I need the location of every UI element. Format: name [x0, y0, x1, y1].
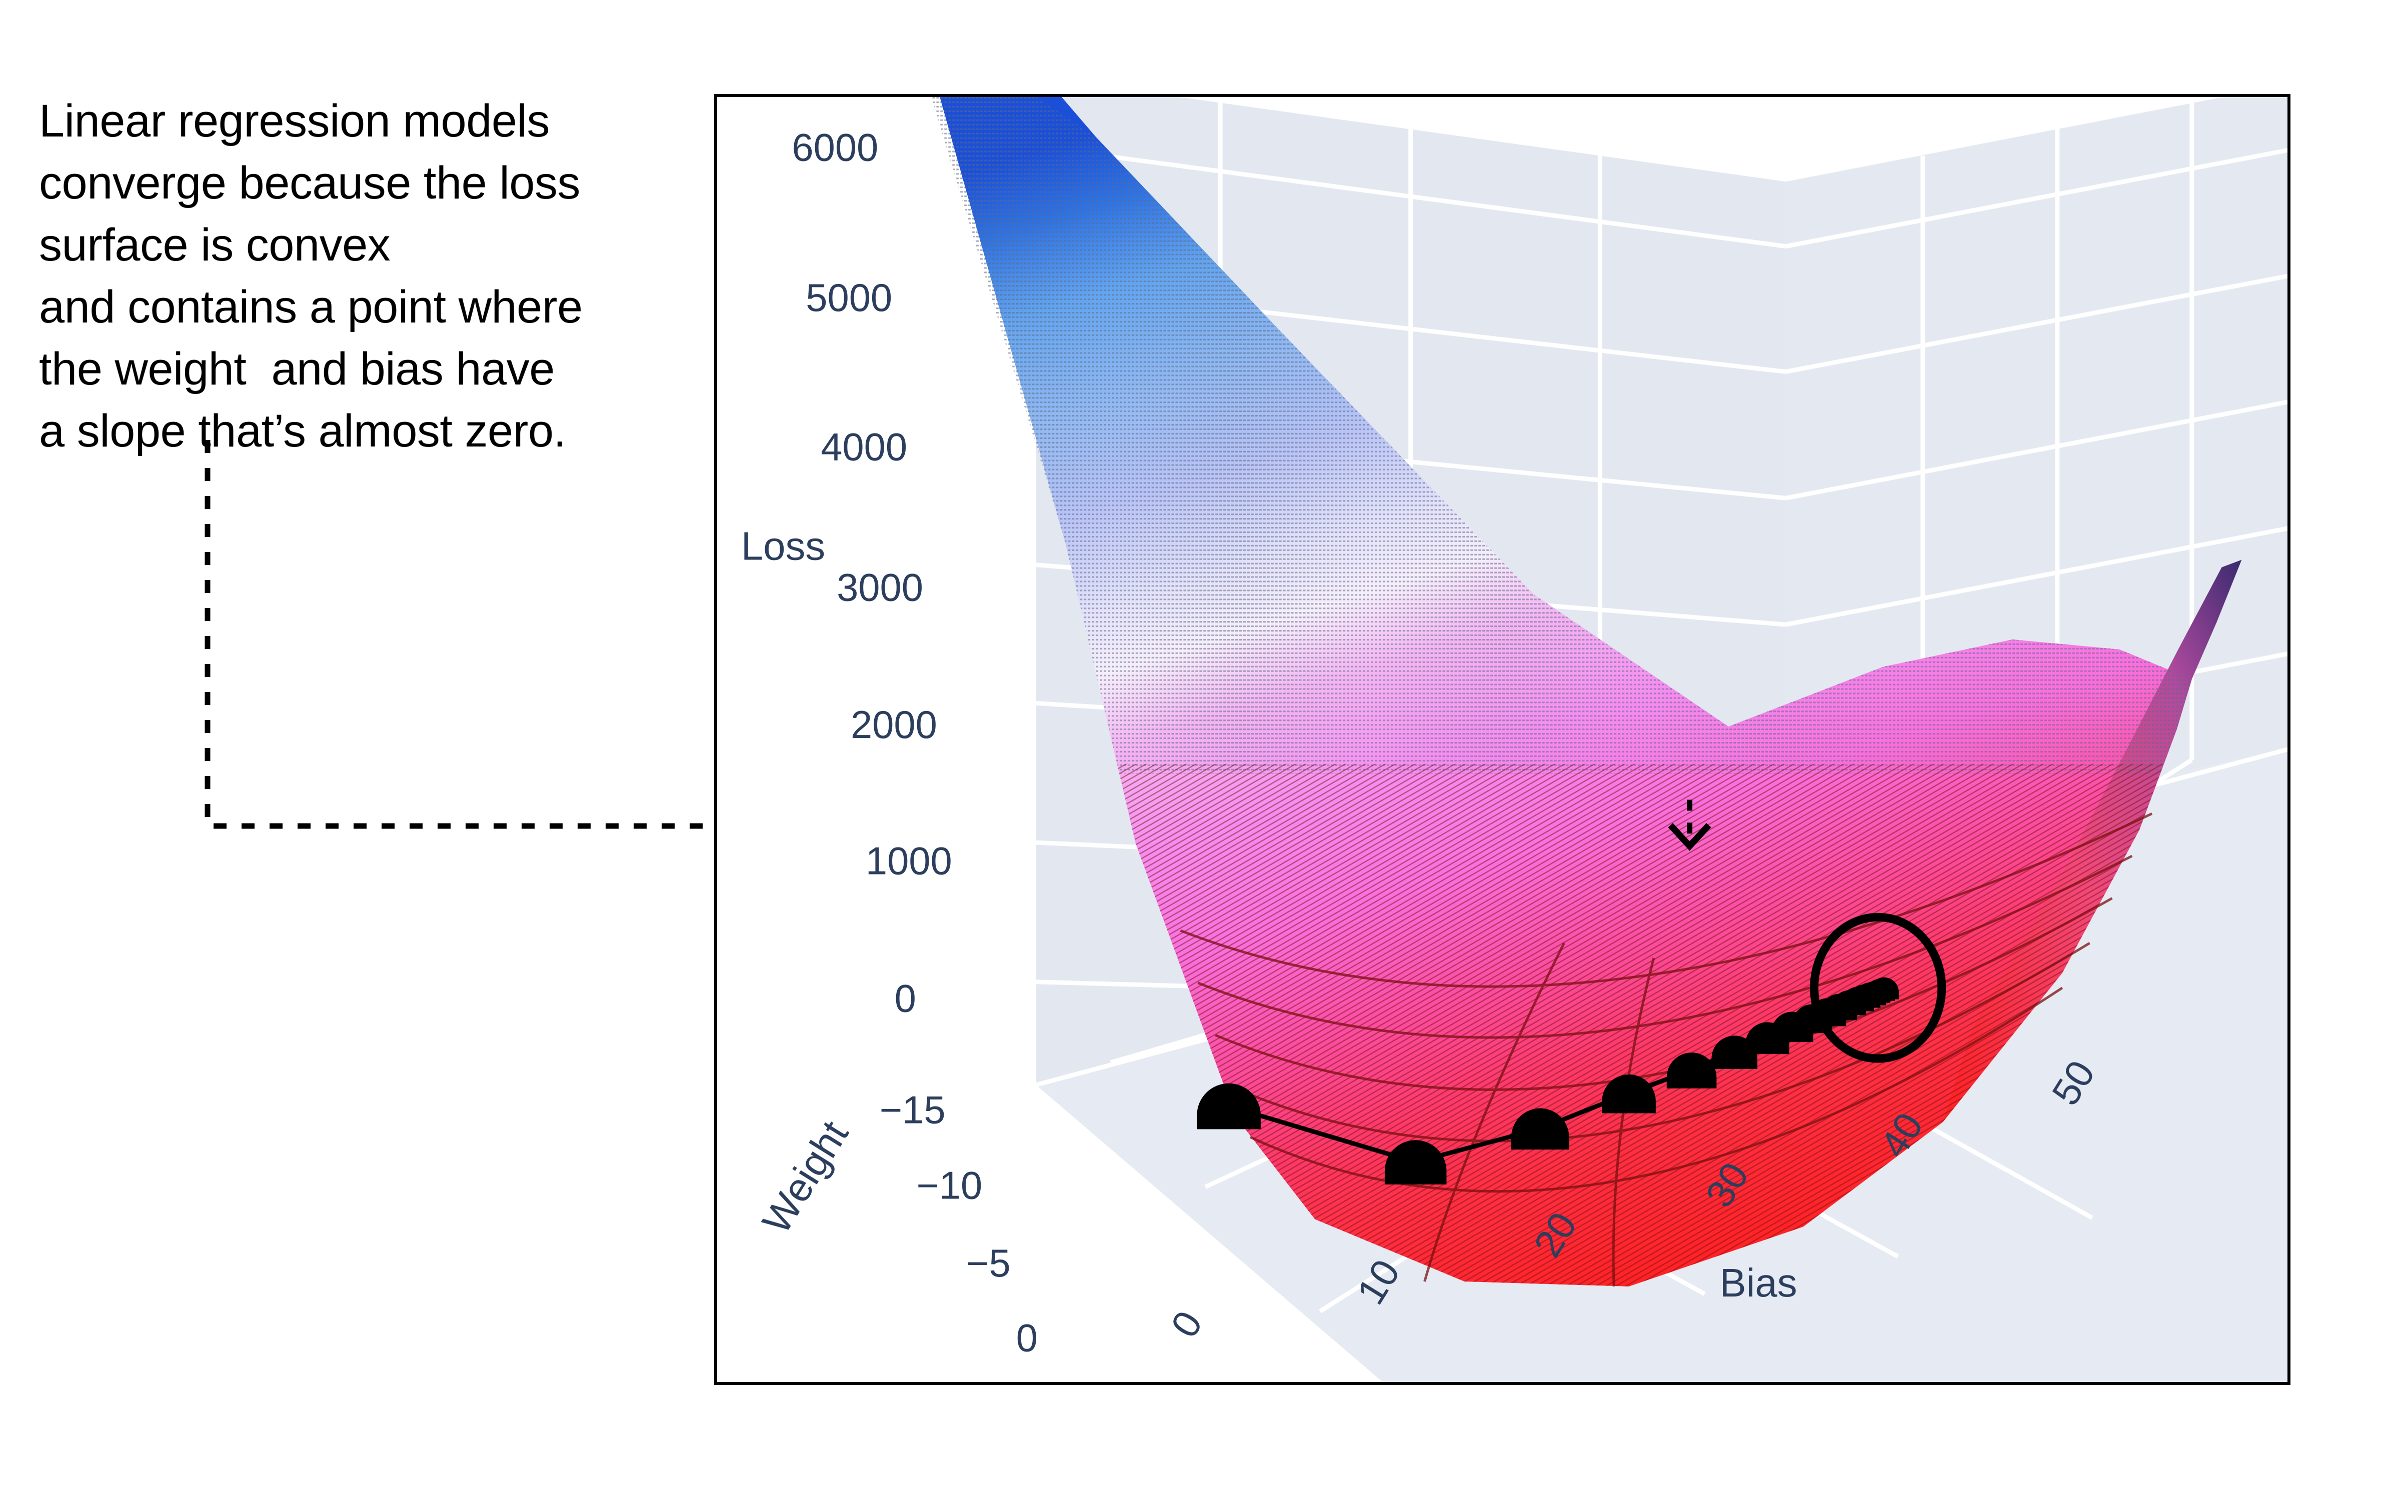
weight-axis-ticks: −15 −10 −5 0	[880, 1088, 1038, 1359]
annotation-line: Linear regression models	[39, 90, 674, 152]
bias-tick: 0	[1163, 1304, 1211, 1345]
annotation-line: a slope that’s almost zero.	[39, 400, 674, 462]
loss-tick: 0	[895, 977, 916, 1020]
bias-axis-title: Bias	[1720, 1260, 1797, 1305]
loss-axis-title: Loss	[741, 524, 825, 568]
annotation-line: and contains a point where	[39, 276, 674, 338]
weight-tick: −10	[916, 1164, 982, 1207]
annotation-text-block: Linear regression models converge becaus…	[39, 90, 674, 462]
annotation-line: surface is convex	[39, 214, 674, 276]
weight-tick: 0	[1016, 1316, 1038, 1359]
loss-tick: 6000	[792, 126, 878, 169]
loss-axis-ticks: 6000 5000 4000 3000 2000 1000 0	[792, 126, 952, 1020]
annotation-line: the weight and bias have	[39, 338, 674, 400]
loss-tick: 4000	[821, 426, 907, 469]
weight-tick: −5	[966, 1242, 1011, 1285]
weight-axis-title: Weight	[754, 1113, 857, 1241]
loss-tick: 5000	[806, 276, 892, 319]
loss-tick: 2000	[851, 703, 937, 746]
loss-surface-3d-plot: 6000 5000 4000 3000 2000 1000 0 Loss −15…	[717, 97, 2287, 1382]
chart-frame: 6000 5000 4000 3000 2000 1000 0 Loss −15…	[714, 94, 2290, 1385]
weight-tick: −15	[880, 1088, 946, 1131]
loss-tick: 1000	[866, 840, 952, 883]
loss-tick: 3000	[837, 566, 923, 609]
annotation-line: converge because the loss	[39, 152, 674, 214]
